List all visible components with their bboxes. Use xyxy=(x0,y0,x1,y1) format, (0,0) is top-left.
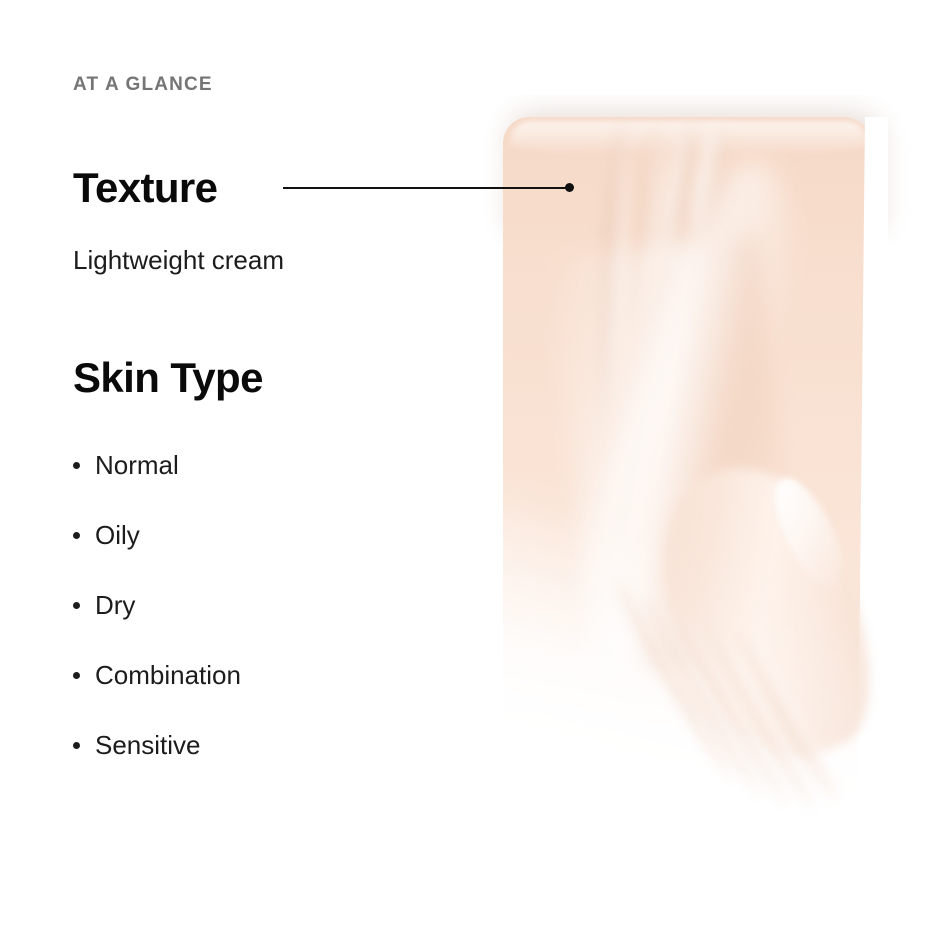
list-item: Sensitive xyxy=(73,710,241,780)
swatch-cream-body xyxy=(503,117,873,907)
at-a-glance-panel: AT A GLANCE Texture Lightweight cream Sk… xyxy=(0,0,930,930)
skin-type-list: Normal Oily Dry Combination Sensitive xyxy=(73,430,241,780)
cream-swatch-photo xyxy=(470,95,930,930)
bullet-icon xyxy=(73,532,80,539)
skin-type-heading: Skin Type xyxy=(73,354,263,402)
skin-type-label: Sensitive xyxy=(95,730,201,761)
skin-type-label: Dry xyxy=(95,590,135,621)
bullet-icon xyxy=(73,742,80,749)
list-item: Dry xyxy=(73,570,241,640)
texture-heading: Texture xyxy=(73,164,217,212)
swatch-top-gloss xyxy=(510,121,868,155)
bullet-icon xyxy=(73,672,80,679)
swatch-ridge-4 xyxy=(686,119,734,242)
swatch-diagonal-fold xyxy=(549,235,802,675)
swatch-ridge-1 xyxy=(594,121,634,422)
texture-leader-dot-icon xyxy=(565,183,574,192)
bullet-icon xyxy=(73,462,80,469)
swatch-ridge-3 xyxy=(656,120,703,272)
swatch-stroke-3 xyxy=(667,606,795,810)
swatch-swirl-lobe xyxy=(628,441,905,786)
swatch-sweep-fold xyxy=(559,145,830,686)
texture-leader-line xyxy=(283,187,571,189)
section-eyebrow-label: AT A GLANCE xyxy=(73,74,213,96)
list-item: Oily xyxy=(73,500,241,570)
swatch-ridge-2 xyxy=(629,121,667,332)
skin-type-label: Combination xyxy=(95,660,241,691)
swatch-bottom-fade xyxy=(470,655,930,930)
skin-type-label: Normal xyxy=(95,450,179,481)
swatch-swirl-gloss xyxy=(762,469,856,597)
list-item: Normal xyxy=(73,430,241,500)
swatch-drop-shadow xyxy=(508,111,883,231)
bullet-icon xyxy=(73,602,80,609)
swatch-stroke-2 xyxy=(638,592,769,800)
skin-type-label: Oily xyxy=(95,520,140,551)
swatch-stroke-4 xyxy=(697,617,820,812)
texture-value: Lightweight cream xyxy=(73,245,284,276)
swatch-right-edge-trim xyxy=(842,117,888,817)
swatch-stroke-1 xyxy=(610,576,741,784)
list-item: Combination xyxy=(73,640,241,710)
swatch-stroke-5 xyxy=(729,624,845,806)
